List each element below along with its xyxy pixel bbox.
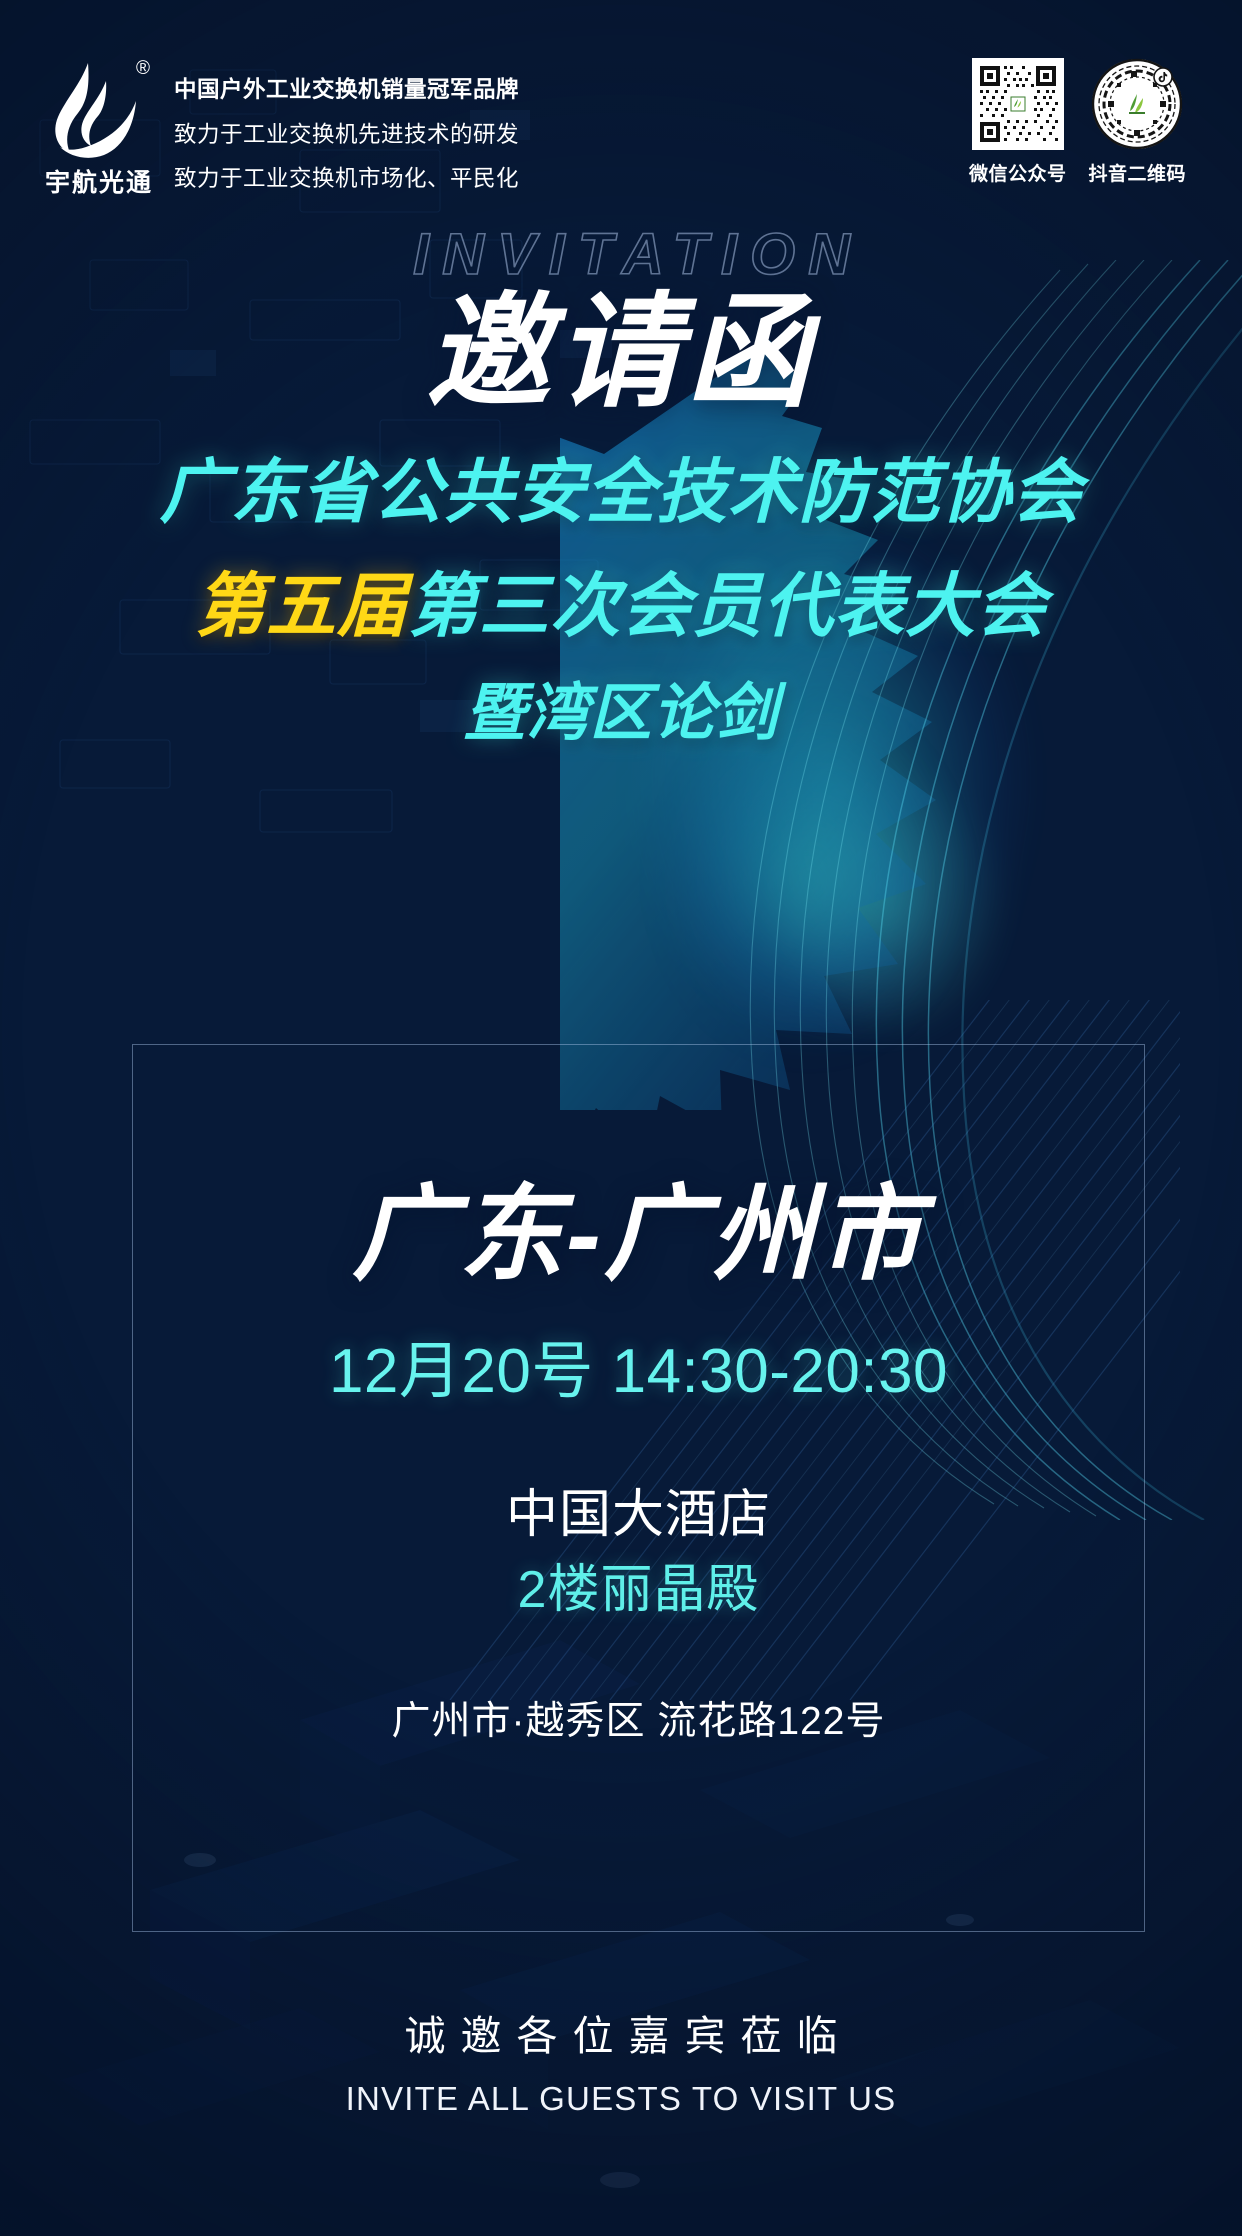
brand-taglines: 中国户外工业交换机销量冠军品牌 致力于工业交换机先进技术的研发 致力于工业交换机…	[174, 55, 519, 191]
brand-tagline-2: 致力于工业交换机先进技术的研发	[174, 124, 519, 147]
brand-tagline-3: 致力于工业交换机市场化、平民化	[174, 168, 519, 191]
qr-code-group: 微信公众号	[969, 58, 1186, 186]
event-datetime: 12月20号 14:30-20:30	[133, 1341, 1144, 1403]
registered-trademark-icon: ®	[136, 59, 150, 78]
event-details-card: 广东-广州市 12月20号 14:30-20:30 中国大酒店 2楼丽晶殿 广州…	[132, 1044, 1145, 1932]
brand-name: 宇航光通	[44, 163, 154, 199]
brand-logo-container: ® 宇航光通	[44, 55, 140, 205]
invitation-chinese-title: 邀请函	[0, 278, 1242, 429]
invitation-poster: ® 宇航光通 中国户外工业交换机销量冠军品牌 致力于工业交换机先进技术的研发 致…	[0, 0, 1242, 2236]
brand-block: ® 宇航光通 中国户外工业交换机销量冠军品牌 致力于工业交换机先进技术的研发 致…	[44, 55, 519, 205]
footer-english-text: INVITE ALL GUESTS TO VISIT US	[0, 2079, 1242, 2119]
wechat-qr-code-icon	[976, 62, 1060, 146]
event-heading-line-3: 暨湾区论剑	[0, 670, 1242, 758]
event-venue: 中国大酒店	[133, 1481, 1144, 1550]
flame-swoosh-logo-icon	[44, 55, 140, 167]
event-heading-highlight: 第五届	[195, 567, 408, 645]
event-heading-line-2-rest: 第三次会员代表大会	[408, 567, 1047, 645]
wechat-qr-box[interactable]	[972, 58, 1064, 150]
invitation-english-title: INVITATION	[34, 226, 1242, 284]
wechat-qr-item[interactable]: 微信公众号	[969, 58, 1067, 186]
wechat-qr-caption: 微信公众号	[969, 159, 1067, 186]
event-heading-line-1: 广东省公共安全技术防范协会	[0, 443, 1242, 542]
douyin-qr-code-icon	[1091, 58, 1183, 150]
event-address: 广州市·越秀区 流花路122号	[133, 1690, 1144, 1746]
event-hall: 2楼丽晶殿	[133, 1556, 1144, 1625]
footer-chinese-text: 诚邀各位嘉宾莅临	[15, 2010, 1242, 2063]
event-heading-line-2: 第五届第三次会员代表大会	[0, 557, 1242, 656]
douyin-qr-caption: 抖音二维码	[1088, 159, 1186, 186]
poster-footer: 诚邀各位嘉宾莅临 INVITE ALL GUESTS TO VISIT US	[0, 2010, 1242, 2119]
douyin-qr-item[interactable]: 抖音二维码	[1088, 58, 1186, 186]
poster-header: ® 宇航光通 中国户外工业交换机销量冠军品牌 致力于工业交换机先进技术的研发 致…	[0, 0, 1242, 200]
douyin-qr-box[interactable]	[1091, 58, 1183, 150]
brand-tagline-1: 中国户外工业交换机销量冠军品牌	[174, 79, 519, 102]
event-city: 广东-广州市	[133, 1183, 1144, 1287]
title-block: INVITATION 邀请函 广东省公共安全技术防范协会 第五届第三次会员代表大…	[0, 226, 1242, 758]
